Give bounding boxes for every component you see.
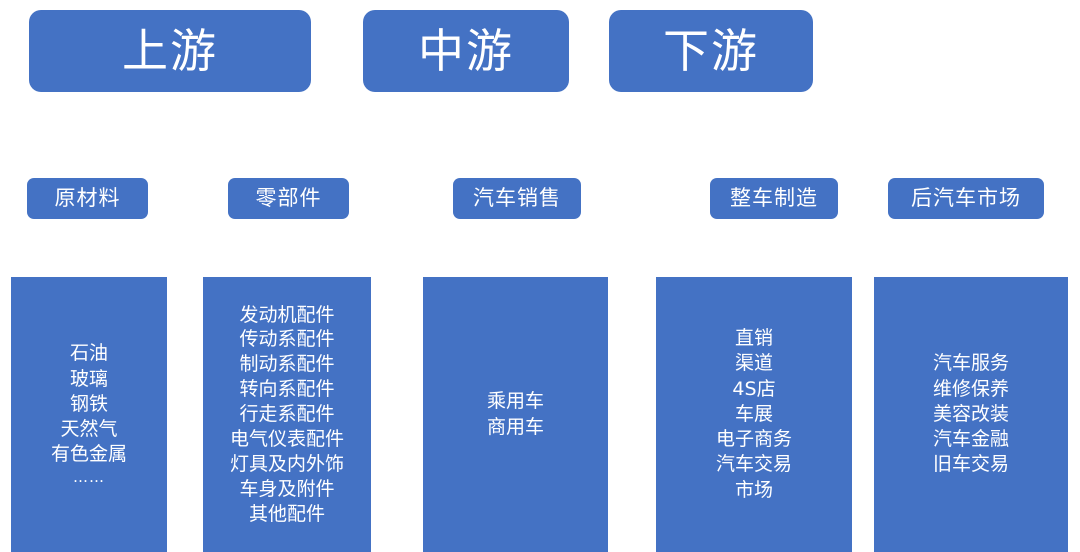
content-item: 传动系配件 — [239, 327, 334, 352]
content-item: 天然气 — [60, 417, 117, 442]
content-item: 美容改装 — [933, 402, 1009, 427]
content-item: 转向系配件 — [239, 377, 334, 402]
content-item: 渠道 — [735, 351, 773, 376]
diagram-canvas: 上游中游下游原材料零部件汽车销售整车制造后汽车市场石油玻璃钢铁天然气有色金属……… — [0, 0, 1080, 552]
content-item: 灯具及内外饰 — [230, 452, 344, 477]
content-item: 乘用车 — [487, 389, 544, 414]
content-item: 电子商务 — [716, 427, 792, 452]
content-item: 直销 — [735, 326, 773, 351]
content-item: 石油 — [70, 341, 108, 366]
content-item: 汽车金融 — [933, 427, 1009, 452]
content-box-raw-materials-items: 石油玻璃钢铁天然气有色金属…… — [11, 277, 167, 552]
content-item: 行走系配件 — [239, 402, 334, 427]
content-item: …… — [73, 468, 105, 488]
content-item: 市场 — [735, 478, 773, 503]
content-item: 有色金属 — [51, 442, 127, 467]
stage-label-text: 后汽车市场 — [911, 188, 1021, 209]
content-item: 维修保养 — [933, 377, 1009, 402]
content-item: 车展 — [735, 402, 773, 427]
content-item: 汽车交易 — [716, 452, 792, 477]
tier-box-label: 中游 — [418, 28, 514, 74]
stage-label-parts: 零部件 — [228, 178, 349, 219]
stage-label-text: 原材料 — [55, 188, 121, 209]
stage-label-text: 汽车销售 — [473, 188, 561, 209]
stage-label-text: 零部件 — [256, 188, 322, 209]
tier-box-label: 下游 — [663, 28, 759, 74]
content-box-parts-items: 发动机配件传动系配件制动系配件转向系配件行走系配件电气仪表配件灯具及内外饰车身及… — [203, 277, 371, 552]
tier-box-label: 上游 — [122, 28, 218, 74]
content-item: 4S店 — [732, 377, 775, 402]
stage-label-aftermarket: 后汽车市场 — [888, 178, 1044, 219]
tier-box-midstream: 中游 — [363, 10, 569, 92]
content-item: 电气仪表配件 — [230, 427, 344, 452]
content-item: 车身及附件 — [239, 477, 334, 502]
content-item: 其他配件 — [249, 502, 325, 527]
content-box-aftermarket-items: 汽车服务维修保养美容改装汽车金融旧车交易 — [874, 277, 1068, 552]
content-item: 玻璃 — [70, 367, 108, 392]
content-item: 汽车服务 — [933, 351, 1009, 376]
tier-box-upstream: 上游 — [29, 10, 311, 92]
content-item: 制动系配件 — [239, 352, 334, 377]
content-item: 商用车 — [487, 415, 544, 440]
content-item: 发动机配件 — [239, 303, 334, 328]
stage-label-auto-sales: 汽车销售 — [453, 178, 581, 219]
tier-box-downstream: 下游 — [609, 10, 813, 92]
stage-label-raw-materials: 原材料 — [27, 178, 148, 219]
content-box-auto-sales-items: 乘用车商用车 — [423, 277, 608, 552]
content-item: 旧车交易 — [933, 452, 1009, 477]
content-item: 钢铁 — [70, 392, 108, 417]
stage-label-vehicle-mfg: 整车制造 — [710, 178, 838, 219]
stage-label-text: 整车制造 — [730, 188, 818, 209]
content-box-vehicle-mfg-items: 直销渠道4S店车展电子商务汽车交易市场 — [656, 277, 852, 552]
